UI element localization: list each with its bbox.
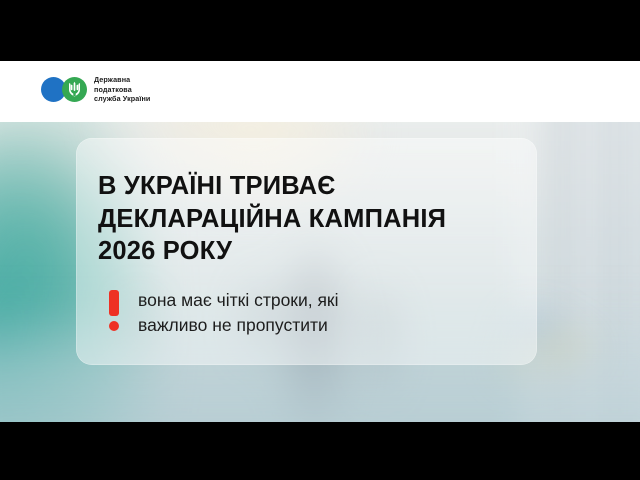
exclamation-mark-icon [108,290,120,336]
video-frame: В УКРАЇНІ ТРИВАЄ ДЕКЛАРАЦІЙНА КАМПАНІЯ 2… [0,0,640,480]
organization-logo: Державна податкова служба України [41,75,150,104]
organization-name-line-3: служба України [94,94,150,104]
subtitle-line-1: вона має чіткі строки, які [138,288,338,313]
page-title: В УКРАЇНІ ТРИВАЄ ДЕКЛАРАЦІЙНА КАМПАНІЯ 2… [98,170,528,268]
organization-name-line-2: податкова [94,85,150,95]
organization-name-line-1: Державна [94,75,150,85]
exclamation-dot [109,321,119,331]
headline-line-3: 2026 РОКУ [98,235,528,268]
logo-marks [41,77,87,102]
organization-name: Державна податкова служба України [94,75,150,104]
letterbox-top [0,0,640,61]
headline-line-1: В УКРАЇНІ ТРИВАЄ [98,170,528,203]
letterbox-bottom [0,422,640,480]
headline-line-2: ДЕКЛАРАЦІЙНА КАМПАНІЯ [98,203,528,236]
subtitle-line-2: важливо не пропустити [138,313,338,338]
trident-green-icon [62,77,87,102]
subtitle-text: вона має чіткі строки, які важливо не пр… [138,288,338,338]
exclamation-bar [109,290,119,316]
subtitle-block: вона має чіткі строки, які важливо не пр… [108,288,508,338]
